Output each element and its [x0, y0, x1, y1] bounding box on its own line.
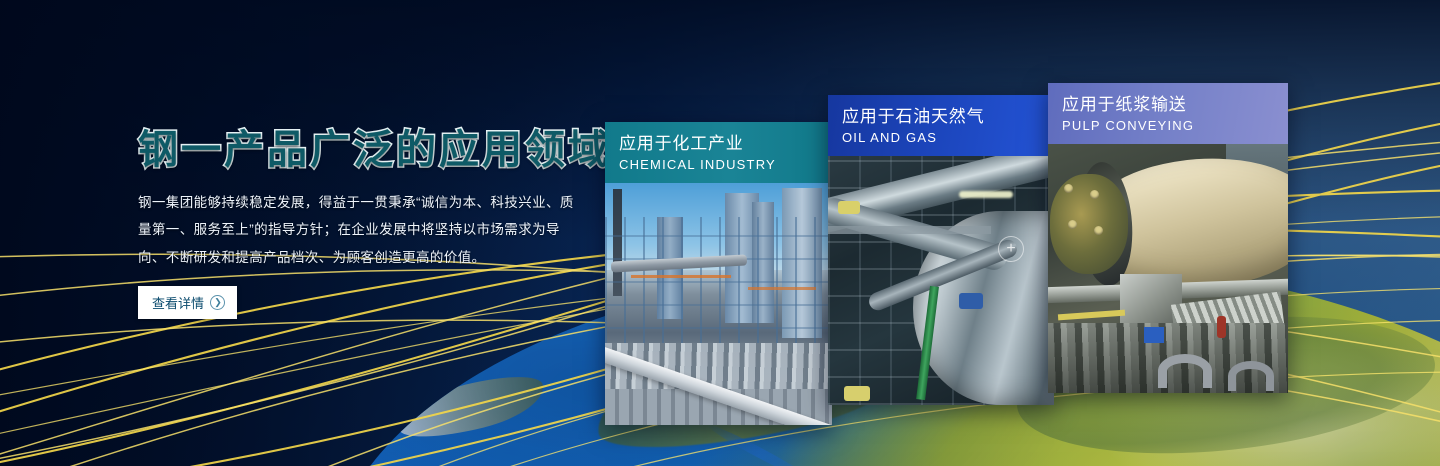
card-photo-pulp-roller [1048, 144, 1288, 393]
photo-bolt [1068, 220, 1077, 229]
photo-accent-line [631, 275, 731, 278]
hero-text-column: 钢一产品广泛的应用领域 钢一集团能够持续稳定发展，得益于一贯秉承“诚信为本、科技… [138, 128, 588, 319]
photo-bolt [1094, 226, 1103, 235]
photo-yellow-rail [1057, 310, 1124, 321]
card-title-cn: 应用于石油天然气 [842, 106, 1054, 129]
photo-yellow-fitting [838, 201, 860, 214]
card-pulp-conveying[interactable]: 应用于纸浆输送 PULP CONVEYING [1048, 83, 1288, 393]
card-header: 应用于化工产业 CHEMICAL INDUSTRY [605, 122, 832, 183]
photo-blue-valve [1144, 327, 1164, 343]
photo-lamp [959, 191, 1013, 198]
card-header: 应用于纸浆输送 PULP CONVEYING [1048, 83, 1288, 144]
card-oil-and-gas[interactable]: 应用于石油天然气 OIL AND GAS + [828, 95, 1054, 405]
photo-bolt [1064, 184, 1073, 193]
card-title-cn: 应用于纸浆输送 [1062, 94, 1288, 117]
photo-steel-frame [605, 217, 832, 352]
photo-pipe-elbow [1228, 361, 1274, 391]
card-title-en: OIL AND GAS [842, 129, 1054, 147]
card-title-en: PULP CONVEYING [1062, 117, 1288, 135]
chevron-right-icon: ❯ [210, 295, 225, 310]
view-details-button[interactable]: 查看详情 ❯ [138, 286, 237, 319]
photo-bearing-hub [1050, 174, 1128, 274]
card-header: 应用于石油天然气 OIL AND GAS [828, 95, 1054, 156]
card-photo-chemical-plant [605, 183, 832, 425]
card-title-en: CHEMICAL INDUSTRY [619, 156, 832, 174]
photo-blue-valve [959, 293, 983, 309]
card-title-cn: 应用于化工产业 [619, 133, 832, 156]
hero-description: 钢一集团能够持续稳定发展，得益于一贯秉承“诚信为本、科技兴业、质量第一、服务至上… [138, 189, 578, 272]
card-photo-oil-gas-plant: + [828, 156, 1054, 405]
hero-banner: 钢一产品广泛的应用领域 钢一集团能够持续稳定发展，得益于一贯秉承“诚信为本、科技… [0, 0, 1440, 466]
photo-accent-line [748, 287, 816, 290]
view-details-label: 查看详情 [152, 293, 204, 312]
page-title: 钢一产品广泛的应用领域 [138, 128, 588, 173]
photo-walkway [828, 226, 991, 234]
photo-pipe-elbow [1158, 354, 1212, 388]
photo-red-handle [1217, 316, 1226, 338]
photo-bolt [1090, 190, 1099, 199]
photo-yellow-fitting [844, 386, 870, 401]
card-chemical-industry[interactable]: 应用于化工产业 CHEMICAL INDUSTRY [605, 122, 832, 425]
zoom-in-icon[interactable]: + [998, 236, 1024, 262]
